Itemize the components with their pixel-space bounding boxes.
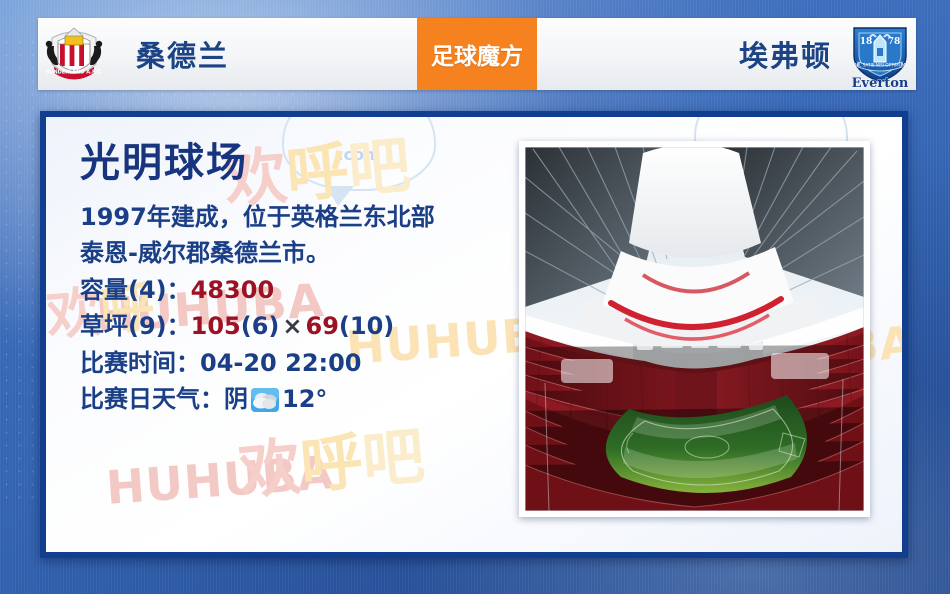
pitch-separator: ： [167,312,191,340]
stadium-photo [525,147,864,511]
svg-text:NIL SATIS NISI OPTIMUM: NIL SATIS NISI OPTIMUM [855,63,906,68]
away-team-block[interactable]: 埃弗顿 18 78 NIL SATIS NISI [537,18,916,90]
screenshot-root: SUNDERLAND A.F.C. 桑德兰 足球魔方 埃弗顿 [0,0,950,594]
sunderland-afc-crest-icon: SUNDERLAND A.F.C. [38,18,110,90]
pitch-rank: (9) [128,312,167,340]
weather-condition: 阴 [224,385,248,413]
capacity-rank: (4) [128,276,167,304]
stadium-title: 光明球场 [80,141,500,185]
watermark-cn-char-6: 吧 [359,419,427,497]
svg-text:18: 18 [860,37,873,47]
site-logo-text: 足球魔方 [431,37,523,71]
watermark-brand-en-4: HUHUBA [104,445,336,515]
cloudy-icon [250,387,280,413]
watermark-brand-cn-bottom: 欢呼吧 [234,405,427,511]
capacity-separator: ： [167,276,191,304]
stadium-info-text: 光明球场 1997年建成，位于英格兰东北部 泰恩-威尔郡桑德兰市。 容量(4)：… [80,141,500,418]
pitch-length-rank: (6) [241,312,280,340]
capacity-label: 容量 [80,276,128,304]
stadium-description-line-2: 泰恩-威尔郡桑德兰市。 [80,235,500,271]
everton-fc-crest-icon: 18 78 NIL SATIS NISI OPTIMUM Everton [844,18,916,90]
watermark-cn-char-4: 欢 [236,430,304,508]
away-team-name: 埃弗顿 [739,33,832,75]
weather-row: 比赛日天气：阴 12° [80,381,500,417]
match-time-value: 04-20 22:00 [200,349,362,377]
pitch-label: 草坪 [80,312,128,340]
watermark-cn-char-5: 呼 [297,424,365,502]
match-time-row: 比赛时间：04-20 22:00 [80,345,500,381]
svg-text:78: 78 [888,37,901,47]
pitch-length: 105 [191,312,241,340]
home-team-name: 桑德兰 [136,33,229,75]
pitch-width: 69 [306,312,339,340]
weather-label: 比赛日天气： [80,385,224,413]
weather-temperature: 12° [282,385,327,413]
svg-text:Everton: Everton [852,76,909,90]
svg-text:SUNDERLAND A.F.C.: SUNDERLAND A.F.C. [46,70,103,76]
capacity-value: 48300 [191,276,275,304]
site-logo-badge[interactable]: 足球魔方 [417,18,537,90]
match-header-bar: SUNDERLAND A.F.C. 桑德兰 足球魔方 埃弗顿 [38,18,916,90]
pitch-multiply-symbol: × [279,312,305,340]
pitch-row: 草坪(9)：105(6)×69(10) [80,308,500,344]
stadium-info-card: .com .com HUHUBA HUHUBA HUHUBA HUHUBA 欢呼… [40,111,908,558]
pitch-width-rank: (10) [339,312,394,340]
capacity-row: 容量(4)：48300 [80,272,500,308]
stadium-photo-frame[interactable] [519,141,870,517]
match-time-label: 比赛时间： [80,349,200,377]
stadium-description-line-1: 1997年建成，位于英格兰东北部 [80,199,500,235]
home-team-block[interactable]: SUNDERLAND A.F.C. 桑德兰 [38,18,417,90]
